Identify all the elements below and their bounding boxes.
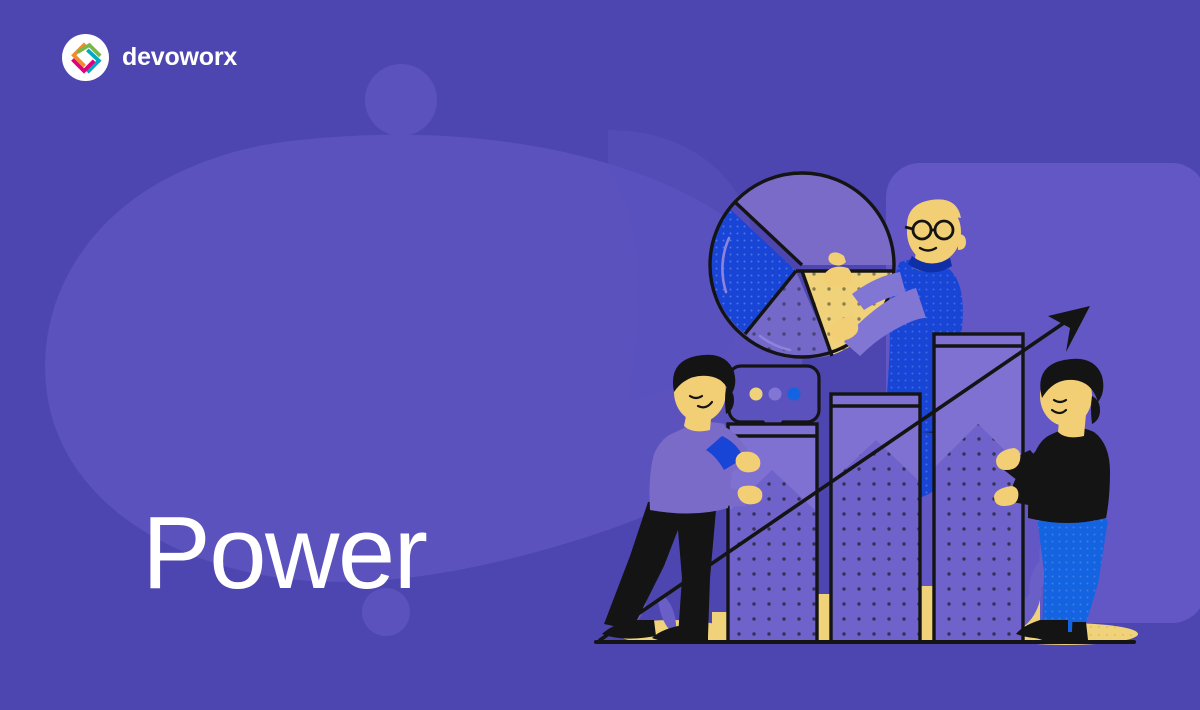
bubble-dot-blue: [788, 388, 801, 401]
brand-lockup[interactable]: devoworx: [62, 34, 237, 81]
devoworx-logo-icon[interactable]: [62, 34, 109, 81]
bubble-dot-purple: [769, 388, 782, 401]
page-title: Power Platform Geeks: [142, 247, 513, 710]
brand-name: devoworx: [122, 45, 237, 70]
headline-line-1: Power: [142, 492, 513, 615]
promo-banner: devoworx Power Platform Geeks: [0, 0, 1200, 710]
bubble-dot-yellow: [750, 388, 763, 401]
